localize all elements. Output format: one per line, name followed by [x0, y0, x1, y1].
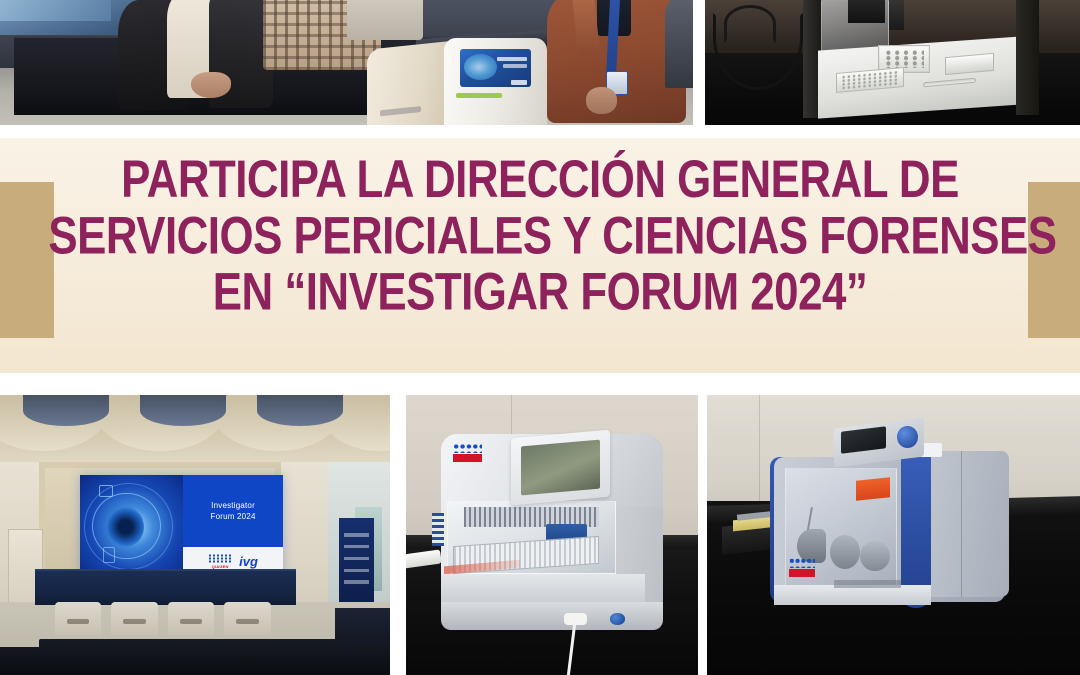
- title-line-1: PARTICIPA LA DIRECCIÓN GENERAL DE: [48, 152, 1031, 208]
- tube-holes: [884, 50, 924, 68]
- blue-control-knob: [897, 426, 918, 448]
- foreground-shadow: [0, 647, 390, 675]
- robotic-arm: [889, 0, 904, 30]
- power-button: [610, 613, 625, 624]
- side-panel-seam: [961, 451, 962, 597]
- person-light-shirt: [347, 0, 423, 40]
- banner-text-line-5: [344, 580, 369, 583]
- scene-conference-room: Investigator Forum 2024 QIAGEN ivg: [0, 395, 390, 675]
- screen-title-line-1: Investigator: [211, 501, 255, 510]
- instrument-status-strip: [456, 93, 502, 98]
- scene-instrument-interior: [705, 0, 1080, 125]
- qiagen-wordmark-bar: [453, 454, 482, 462]
- page-title: PARTICIPA LA DIRECCIÓN GENERAL DE SERVIC…: [48, 152, 1031, 320]
- adapter-clamp-3: [860, 541, 890, 572]
- qiagen-wordmark-bar: [789, 569, 815, 577]
- blue-corner-right: [901, 445, 931, 607]
- banner-text-line-1: [344, 533, 369, 536]
- display-eye-graphic: [464, 54, 497, 80]
- ivg-logo: ivg: [239, 555, 258, 568]
- qiagen-logo: [453, 443, 482, 463]
- photo-bottom-right-tissuelyser: [707, 395, 1080, 675]
- instrument-with-display: [444, 38, 548, 126]
- qiagen-dot-grid-icon: [789, 557, 815, 568]
- qiagen-logo: QIAGEN: [208, 554, 232, 569]
- led-screen-title: Investigator Forum 2024: [183, 475, 282, 548]
- qiagen-dot-grid-icon: [453, 443, 482, 453]
- screen-title-line-2: Forum 2024: [210, 512, 255, 521]
- ceiling-recess-3: [257, 395, 343, 426]
- instrument-model-label: [834, 580, 901, 588]
- display-title-bar: [497, 57, 527, 61]
- adapter-clamp-2: [830, 535, 860, 569]
- stage-platform: [35, 571, 296, 605]
- led-screen: Investigator Forum 2024 QIAGEN ivg: [80, 475, 283, 576]
- display-logo-block: [511, 80, 527, 85]
- roll-up-banner: [339, 518, 374, 602]
- instrument-base: [441, 602, 663, 630]
- instrument-base: [774, 585, 931, 605]
- instrument-side-panel: [920, 451, 1010, 597]
- side-indicator-strip: [432, 513, 444, 547]
- instrument-display-screen: [460, 49, 531, 88]
- instrument-touchscreen: [511, 430, 610, 506]
- scene-attendees: [0, 0, 693, 125]
- title-banner: PARTICIPA LA DIRECCIÓN GENERAL DE SERVIC…: [0, 138, 1080, 373]
- ceiling-recess-2: [140, 395, 226, 426]
- led-screen-eye-graphic: [80, 475, 183, 576]
- ceiling-recess-1: [23, 395, 109, 426]
- hand: [586, 87, 616, 114]
- display-subtitle-bar: [503, 64, 527, 67]
- hands-clasped: [191, 72, 231, 98]
- touchscreen-glass: [521, 440, 600, 495]
- instrument-frame-right: [1016, 0, 1039, 115]
- banner-text-line-3: [344, 557, 369, 560]
- person-dark-jacket: [118, 0, 270, 113]
- photo-top-left-attendees: [0, 0, 693, 125]
- banner-text-line-4: [344, 569, 369, 572]
- photo-top-right-instrument-interior: [705, 0, 1080, 125]
- wall-seam: [759, 395, 760, 518]
- qiagen-logo: [789, 557, 815, 577]
- draped-table-right: [335, 608, 390, 653]
- instrument-label-plate: [380, 106, 421, 116]
- banner-text-line-2: [344, 545, 369, 548]
- poster-root: PARTICIPA LA DIRECCIÓN GENERAL DE SERVIC…: [0, 0, 1080, 675]
- led-wall-panel: [0, 0, 111, 21]
- title-line-2: SERVICIOS PERICIALES Y CIENCIAS FORENSES: [48, 208, 1031, 264]
- hud-box-2: [103, 547, 115, 563]
- hud-box-1: [99, 485, 113, 497]
- scene-extraction-instrument: [406, 395, 698, 675]
- photo-bottom-middle-extraction-instrument: [406, 395, 698, 675]
- title-line-3: EN “INVESTIGAR FORUM 2024”: [48, 264, 1031, 320]
- scene-tissuelyser: [707, 395, 1080, 675]
- accent-block-left: [0, 182, 54, 338]
- person-edge-partial: [665, 0, 693, 88]
- qiagen-dot-grid-icon: [208, 554, 232, 563]
- photo-bottom-left-conference-room: Investigator Forum 2024 QIAGEN ivg: [0, 395, 390, 675]
- pipetting-head: [848, 0, 886, 23]
- plate-wells: [841, 71, 899, 90]
- orange-warning-label: [856, 477, 890, 500]
